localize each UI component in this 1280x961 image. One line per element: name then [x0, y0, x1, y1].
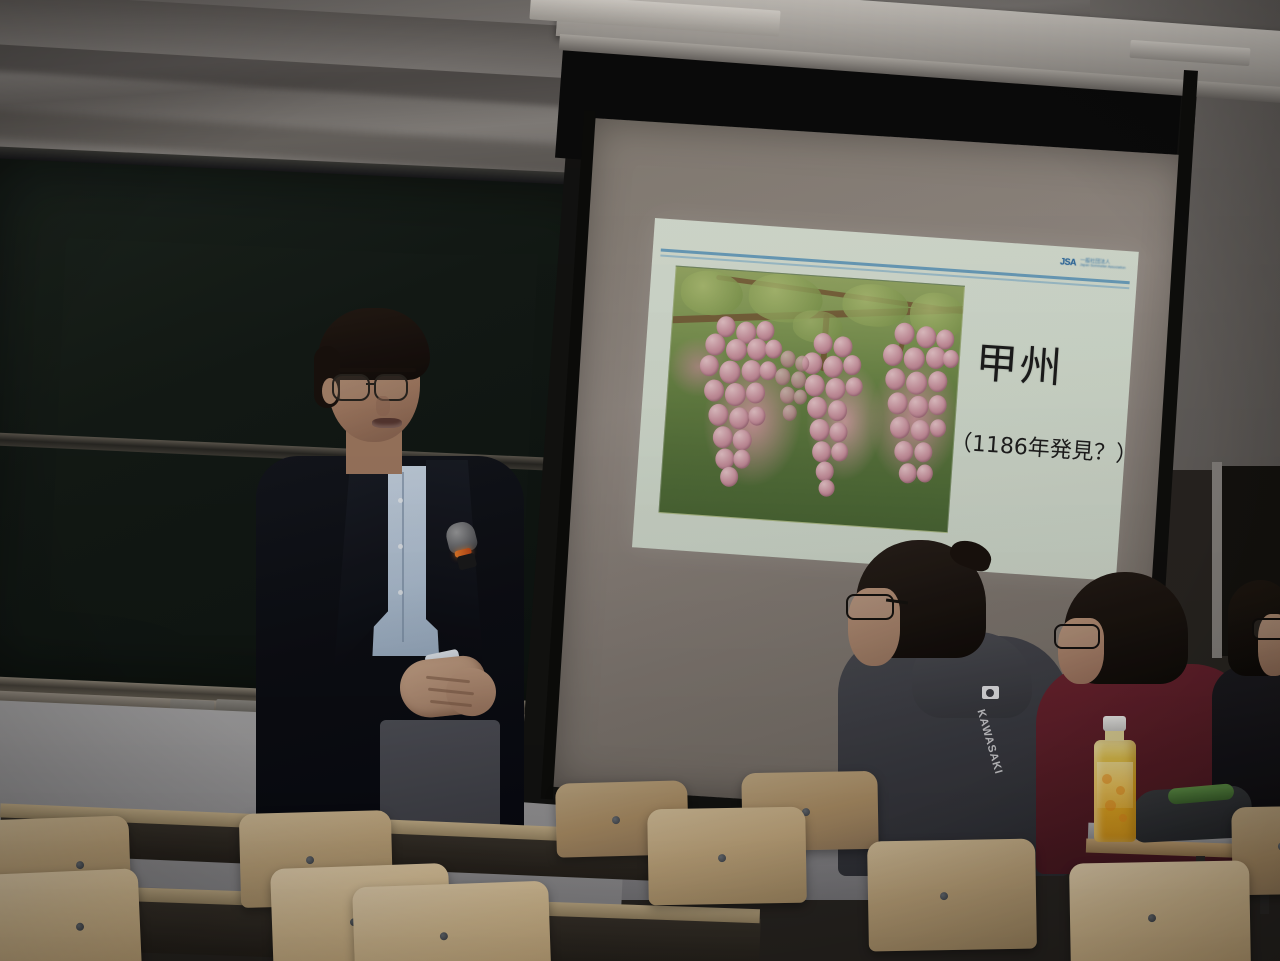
projected-slide: JSA 一般社団法人 Japan Sommelier Association — [632, 218, 1139, 581]
eyeglasses-icon — [332, 374, 424, 398]
slide-logo: JSA 一般社団法人 Japan Sommelier Association — [1060, 256, 1126, 271]
presenter-mouth — [372, 418, 402, 428]
grape-bunch — [770, 350, 815, 433]
presenter-brow — [338, 368, 416, 372]
eyeglasses-icon — [1054, 624, 1100, 649]
grape-bunch — [686, 314, 784, 490]
presenter-nose — [376, 396, 390, 416]
lecture-hall-chair[interactable] — [352, 881, 552, 961]
grape-bunch — [866, 321, 960, 496]
lecture-hall-chair[interactable] — [1069, 860, 1251, 961]
shirt-placket — [402, 472, 404, 642]
lecture-hall-photo: JSA 一般社団法人 Japan Sommelier Association — [0, 0, 1280, 961]
logo-sub-line2: Japan Sommelier Association — [1080, 264, 1126, 271]
bottle-neck — [1105, 730, 1124, 741]
logo-mark-text: JSA — [1060, 256, 1077, 267]
eyeglasses-icon — [1252, 618, 1280, 640]
lecture-hall-chair[interactable] — [867, 839, 1037, 952]
lecture-hall-chair[interactable] — [647, 807, 807, 906]
slide-title: 甲州 — [974, 329, 1066, 396]
shirt-button — [398, 590, 403, 595]
grape-photo — [658, 266, 965, 534]
beverage-bottle[interactable] — [1092, 716, 1138, 842]
bottle-cap[interactable] — [1103, 716, 1126, 731]
lecture-hall-chair[interactable] — [0, 868, 142, 961]
shirt-button — [398, 498, 403, 503]
shirt-button — [398, 544, 403, 549]
presenter — [250, 300, 530, 860]
slide-subtitle: （1186年発見？） — [949, 424, 1139, 469]
bottle-label — [1097, 762, 1133, 808]
logo-subtitle: 一般社団法人 Japan Sommelier Association — [1080, 258, 1126, 271]
sleeve-logo-icon — [982, 686, 999, 699]
